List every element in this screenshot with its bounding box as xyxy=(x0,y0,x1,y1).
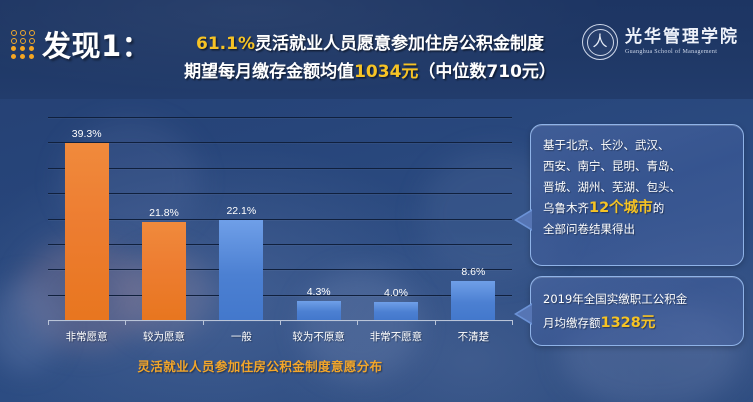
callout-line: 全部问卷结果得出 xyxy=(543,219,731,240)
slide-root: 发现1： 61.1%灵活就业人员愿意参加住房公积金制度 期望每月缴存金额均值10… xyxy=(0,0,753,402)
chart-bar-value-label: 4.3% xyxy=(289,286,349,298)
chart-gridline xyxy=(48,219,512,220)
chart-bar xyxy=(219,220,263,320)
chart-bar-value-label: 4.0% xyxy=(366,287,426,299)
university-seal-icon: 人 xyxy=(582,24,618,60)
header-title-block: 61.1%灵活就业人员愿意参加住房公积金制度 期望每月缴存金额均值1034元（中… xyxy=(150,30,590,86)
title-line-2-highlight: 1034元 xyxy=(354,62,418,82)
chart-gridline xyxy=(48,244,512,245)
callout-cities-body: 基于北京、长沙、武汉、 西安、南宁、昆明、青岛、 晋城、湖州、芜湖、包头、 乌鲁… xyxy=(531,125,743,250)
callout-line: 西安、南宁、昆明、青岛、 xyxy=(543,156,731,177)
chart-axis-tick xyxy=(435,320,436,325)
callout-line-highlighted: 月均缴存额1328元 xyxy=(543,311,731,335)
chart-axis-tick xyxy=(203,320,204,325)
chart-axis-tick xyxy=(48,320,49,325)
chart-axis-tick xyxy=(357,320,358,325)
chart-bar xyxy=(374,302,418,320)
callout-tail-fill xyxy=(517,211,532,229)
callout-line-prefix: 月均缴存额 xyxy=(543,316,601,330)
chart-caption: 灵活就业人员参加住房公积金制度意愿分布 xyxy=(60,356,460,375)
title-line-1: 61.1%灵活就业人员愿意参加住房公积金制度 xyxy=(150,30,590,58)
chart-bar-value-label: 39.3% xyxy=(57,128,117,140)
callout-line-prefix: 乌鲁木齐 xyxy=(543,201,589,215)
chart-axis-tick xyxy=(512,320,513,325)
seal-glyph: 人 xyxy=(583,32,617,51)
callout-cities: 基于北京、长沙、武汉、 西安、南宁、昆明、青岛、 晋城、湖州、芜湖、包头、 乌鲁… xyxy=(530,124,744,266)
chart-gridline xyxy=(48,168,512,169)
title-line-2: 期望每月缴存金额均值1034元（中位数710元） xyxy=(150,58,590,86)
chart-category-label: 一般 xyxy=(199,329,283,344)
chart-gridline xyxy=(48,193,512,194)
chart-bar-value-label: 8.6% xyxy=(443,266,503,278)
callout-line-suffix: 的 xyxy=(653,201,665,215)
chart-axis-tick xyxy=(125,320,126,325)
chart-category-label: 非常不愿意 xyxy=(354,329,438,344)
chart-bar xyxy=(65,143,109,320)
finding-label: 发现1： xyxy=(42,23,151,65)
callout-line: 晋城、湖州、芜湖、包头、 xyxy=(543,177,731,198)
logo-name-cn: 光华管理学院 xyxy=(625,29,739,46)
chart-bar-value-label: 21.8% xyxy=(134,207,194,219)
chart-bar-value-label: 22.1% xyxy=(211,205,271,217)
dot-grid-decoration-icon xyxy=(9,29,36,61)
title-line-2-prefix: 期望每月缴存金额均值 xyxy=(184,62,354,82)
chart-category-label: 不清楚 xyxy=(431,329,515,344)
chart-bar xyxy=(451,281,495,320)
chart-category-label: 较为不原意 xyxy=(277,329,361,344)
chart-category-label: 非常愿意 xyxy=(45,329,129,344)
callout-highlight-amount: 1328元 xyxy=(601,315,656,331)
callout-national-average: 2019年全国实缴职工公积金 月均缴存额1328元 xyxy=(530,276,744,346)
chart-bar xyxy=(297,301,341,320)
chart-category-label: 较为愿意 xyxy=(122,329,206,344)
logo-name-en: Guanghua School of Management xyxy=(625,49,739,55)
chart-gridline xyxy=(48,117,512,118)
callout-national-body: 2019年全国实缴职工公积金 月均缴存额1328元 xyxy=(531,277,743,345)
institution-logo: 人 光华管理学院 Guanghua School of Management xyxy=(582,24,739,60)
chart-bar xyxy=(142,222,186,320)
chart-plot-area xyxy=(48,117,512,320)
callout-highlight-city-count: 12个城市 xyxy=(589,200,653,216)
title-line-2-suffix: （中位数710元） xyxy=(418,62,556,82)
logo-text: 光华管理学院 Guanghua School of Management xyxy=(625,29,739,55)
chart-gridline xyxy=(48,295,512,296)
chart-axis-tick xyxy=(280,320,281,325)
callout-tail-fill xyxy=(517,305,532,323)
slide-header: 发现1： 61.1%灵活就业人员愿意参加住房公积金制度 期望每月缴存金额均值10… xyxy=(0,0,753,99)
title-line-1-text: 灵活就业人员愿意参加住房公积金制度 xyxy=(255,34,544,54)
bar-chart: 39.3%21.8%22.1%4.3%4.0%8.6% 非常愿意较为愿意一般较为… xyxy=(0,99,520,359)
callout-line: 2019年全国实缴职工公积金 xyxy=(543,287,731,311)
callout-line-highlighted: 乌鲁木齐12个城市的 xyxy=(543,198,731,219)
callout-line: 基于北京、长沙、武汉、 xyxy=(543,135,731,156)
title-line-1-highlight: 61.1% xyxy=(196,34,255,54)
chart-gridline xyxy=(48,142,512,143)
